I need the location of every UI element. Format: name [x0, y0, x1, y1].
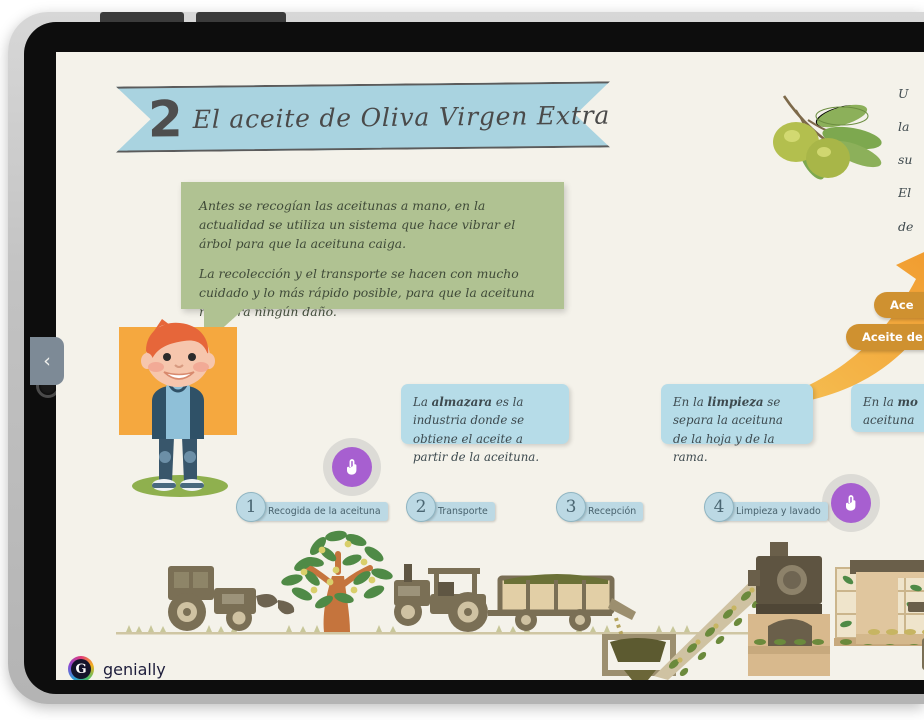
tractor-1	[168, 566, 294, 631]
genially-canvas: 2 El aceite de Oliva Virgen Extra	[56, 52, 924, 680]
card-3-before: En la	[863, 395, 898, 409]
prev-slide-button[interactable]: ‹	[30, 337, 64, 385]
card-1-highlight: almazara	[432, 395, 492, 409]
rtext-line-1: U	[898, 82, 924, 105]
boy-figure-icon	[104, 317, 254, 502]
rtext-line-4: El	[898, 181, 924, 204]
green-paragraph-1: Antes se recogían las aceitunas a mano, …	[199, 196, 544, 254]
boy-character-illustration	[104, 317, 254, 502]
tap-hand-icon	[342, 457, 362, 477]
chevron-left-icon: ‹	[43, 350, 51, 372]
genially-logo-icon: G	[68, 656, 94, 680]
tap-hand-icon	[841, 493, 861, 513]
page-title: El aceite de Oliva Virgen Extra	[193, 100, 610, 133]
step-1-number: 1	[236, 492, 266, 522]
card-2-before: En la	[673, 395, 708, 409]
card-2-highlight: limpieza	[708, 395, 764, 409]
tractor-2-with-trailer	[394, 564, 636, 632]
card-3-highlight: mo	[898, 395, 918, 409]
card-1-before: La	[413, 395, 432, 409]
genially-logo-inner: G	[71, 659, 91, 679]
tablet-bezel: 2 El aceite de Oliva Virgen Extra	[24, 22, 924, 694]
card-3-second-line: aceituna	[863, 413, 914, 427]
hotspot-almazara[interactable]	[323, 438, 381, 496]
badge-bottom[interactable]: Aceite de	[846, 324, 924, 350]
info-card-almazara: La almazara es la industria donde se obt…	[401, 384, 569, 444]
title-ribbon-text: 2 El aceite de Oliva Virgen Extra	[148, 86, 618, 149]
rtext-line-5: de	[898, 215, 924, 238]
green-info-panel: Antes se recogían las aceitunas a mano, …	[181, 182, 564, 309]
step-2-number: 2	[406, 492, 436, 522]
info-card-molienda: En la mo aceituna	[851, 384, 924, 432]
tablet-screen: 2 El aceite de Oliva Virgen Extra	[56, 52, 924, 680]
genially-watermark[interactable]: G genially	[56, 648, 206, 680]
step-4-number: 4	[704, 492, 734, 522]
green-paragraph-2: La recolección y el transporte se hacen …	[199, 264, 544, 322]
right-column-clipped-text: U la su El de	[898, 82, 924, 248]
screenshot-root: 2 El aceite de Oliva Virgen Extra	[0, 0, 924, 720]
rtext-line-3: su	[898, 148, 924, 171]
genially-label: genially	[103, 660, 166, 679]
rtext-line-2: la	[898, 115, 924, 138]
hotspot-almazara-core[interactable]	[332, 447, 372, 487]
tablet-outer-frame: 2 El aceite de Oliva Virgen Extra	[8, 12, 924, 704]
cleaning-machine	[748, 542, 830, 676]
slide-number: 2	[148, 94, 183, 144]
info-card-limpieza: En la limpieza se separa la aceituna de …	[661, 384, 813, 444]
badge-top[interactable]: Ace	[874, 292, 924, 318]
step-3-number: 3	[556, 492, 586, 522]
olive-tree	[280, 529, 394, 632]
